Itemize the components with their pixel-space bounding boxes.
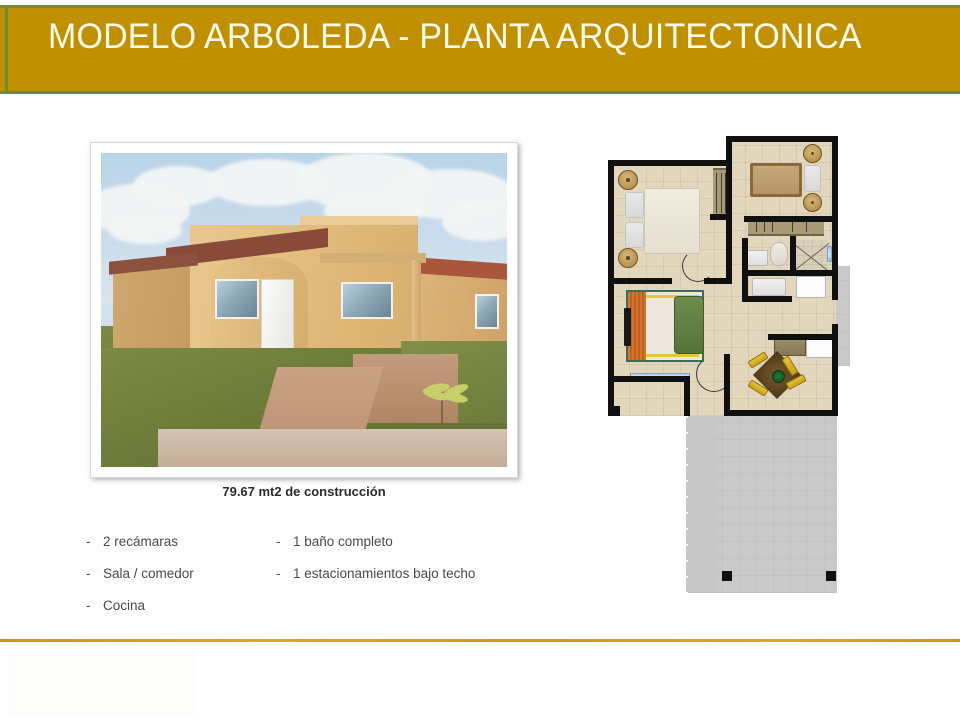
walkway-step <box>686 482 717 496</box>
bed-icon <box>750 163 802 197</box>
list-item: - Sala / comedor <box>86 566 194 581</box>
exterior-photo-frame <box>90 142 518 478</box>
facade-window <box>215 279 260 320</box>
page-title: MODELO ARBOLEDA - PLANTA ARQUITECTONICA <box>48 17 862 57</box>
list-item-label: 1 baño completo <box>293 534 393 549</box>
toilet-icon <box>770 242 788 266</box>
exterior-wall <box>684 376 690 416</box>
interior-wall <box>726 238 732 284</box>
bullet-dash: - <box>276 534 293 549</box>
list-item: - 1 estacionamientos bajo techo <box>276 566 475 581</box>
interior-wall <box>724 354 730 416</box>
exterior-photo <box>101 153 507 467</box>
walkway-step <box>686 434 717 448</box>
bullet-dash: - <box>86 598 103 613</box>
exterior-wall <box>608 160 732 166</box>
list-item: - 1 baño completo <box>276 534 475 549</box>
walkway-step <box>686 530 717 544</box>
nightstand-icon <box>618 170 638 190</box>
walkway-step <box>686 562 717 576</box>
nightstand-icon <box>803 193 822 212</box>
pillow-icon <box>625 222 644 248</box>
list-item: - 2 recámaras <box>86 534 194 549</box>
cloud-shape <box>109 216 182 244</box>
shower-icon <box>794 240 828 274</box>
pillow-icon <box>804 165 821 192</box>
list-item-label: 2 recámaras <box>103 534 178 549</box>
street-curb <box>158 429 507 467</box>
sofa-icon <box>674 296 704 354</box>
exterior-wall <box>724 410 838 416</box>
walkway-step <box>686 418 717 432</box>
floor-plan <box>600 130 850 600</box>
photo-caption: 79.67 mt2 de construcción <box>90 484 518 499</box>
porch-beam <box>320 253 426 262</box>
kitchen-sink-icon <box>752 278 786 296</box>
exterior-wall <box>608 376 684 382</box>
stove-icon <box>796 276 826 298</box>
structural-post <box>610 406 620 416</box>
list-item-label: Cocina <box>103 598 145 613</box>
walkway-step <box>686 546 717 560</box>
carport-post <box>826 571 836 581</box>
list-item-label: Sala / comedor <box>103 566 194 581</box>
walkway-step <box>686 498 717 512</box>
walkway-step <box>686 450 717 464</box>
list-item-label: 1 estacionamientos bajo techo <box>293 566 475 581</box>
walkway-step <box>686 466 717 480</box>
features-right-column: - 1 baño completo - 1 estacionamientos b… <box>276 534 475 598</box>
bullet-dash: - <box>86 566 103 581</box>
facade-window <box>475 294 499 329</box>
slide: MODELO ARBOLEDA - PLANTA ARQUITECTONICA <box>0 0 960 720</box>
front-door <box>261 279 293 358</box>
exterior-wall <box>608 278 672 284</box>
exterior-wall <box>608 160 614 284</box>
walkway-step <box>686 514 717 528</box>
palm-plant <box>414 373 471 430</box>
exterior-wall <box>726 136 838 142</box>
list-item: - Cocina <box>86 598 194 613</box>
tv-icon <box>624 308 631 346</box>
exterior-wall <box>832 324 838 416</box>
interior-wall <box>710 214 732 220</box>
footer-divider <box>0 639 960 642</box>
exterior-wall <box>832 268 838 300</box>
nightstand-icon <box>803 144 822 163</box>
banner-left-accent <box>5 5 8 94</box>
centerpiece-icon <box>772 370 785 383</box>
nightstand-icon <box>618 248 638 268</box>
exterior-wall <box>832 136 838 268</box>
bed-icon <box>644 188 700 254</box>
interior-wall <box>744 216 836 222</box>
interior-wall <box>768 334 836 340</box>
interior-wall <box>790 236 796 272</box>
pillow-icon <box>625 192 644 218</box>
interior-wall <box>742 296 792 302</box>
bullet-dash: - <box>86 534 103 549</box>
interior-wall <box>742 270 834 276</box>
facade-window <box>341 282 394 320</box>
bullet-dash: - <box>276 566 293 581</box>
features-left-column: - 2 recámaras - Sala / comedor - Cocina <box>86 534 194 630</box>
carport-post <box>722 571 732 581</box>
exterior-wall <box>608 278 614 416</box>
walkway-step <box>686 578 717 592</box>
footer-placeholder-box <box>8 652 196 714</box>
sink-icon <box>746 250 768 266</box>
